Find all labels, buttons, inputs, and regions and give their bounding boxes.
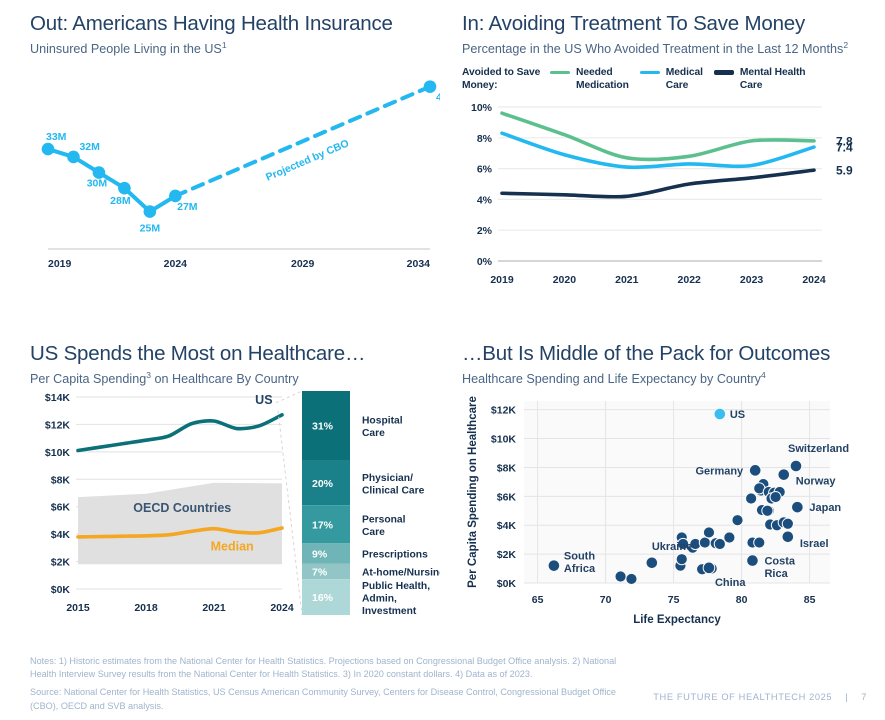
x-tick-label: 2023	[740, 274, 764, 286]
y-tick-label: $6K	[51, 502, 71, 514]
scatter-point	[676, 553, 687, 564]
panel-subtitle: Uninsured People Living in the US1	[30, 40, 440, 57]
y-tick-label: $0K	[497, 578, 517, 590]
data-point-label: 27M	[177, 201, 198, 213]
legend-item-1[interactable]: Medical Care	[640, 67, 703, 93]
breakdown-segment[interactable]: 17%PersonalCare	[302, 505, 406, 543]
scatter-point	[626, 573, 637, 584]
y-tick-label: $0K	[51, 584, 71, 596]
panel-subtitle: Healthcare Spending and Life Expectancy …	[462, 370, 877, 387]
footnote-source: Source: National Center for Health Stati…	[30, 686, 630, 712]
y-tick-label: 8%	[477, 132, 493, 144]
scatter-point-norway	[778, 469, 790, 481]
legend-item-label: Medical Care	[666, 67, 703, 93]
x-tick-label: 65	[532, 594, 544, 606]
data-point	[144, 205, 157, 218]
footnote-marker: 1	[222, 40, 227, 50]
scatter-point-israel	[782, 531, 794, 543]
scatter-point-label: SouthAfrica	[564, 551, 596, 576]
footer-brand: THE FUTURE OF HEALTHTECH 2025 | 7	[653, 692, 867, 702]
breakdown-segment-value: 17%	[312, 519, 334, 531]
legend-item-0[interactable]: Needed Medication	[550, 67, 629, 93]
scatter-point	[699, 537, 710, 548]
y-tick-label: $2K	[51, 556, 71, 568]
data-point	[67, 150, 80, 163]
y-tick-label: $2K	[497, 549, 517, 561]
scatter-point-ukraine	[646, 557, 658, 569]
series-line	[502, 113, 814, 159]
x-tick-label: 75	[668, 594, 680, 606]
chart-legend: Avoided to Save Money: Needed Medication…	[462, 67, 877, 93]
footnote-marker: 4	[761, 370, 766, 380]
panel-title: …But Is Middle of the Pack for Outcomes	[462, 342, 877, 366]
panel-middle-of-the-pack: …But Is Middle of the Pack for Outcomes …	[462, 342, 877, 647]
scatter-point	[746, 493, 757, 504]
breakdown-segment[interactable]: 9%Prescriptions	[302, 543, 428, 563]
breakdown-segment[interactable]: 20%Physician/Clinical Care	[302, 460, 425, 505]
panel-subtitle-text: Uninsured People Living in the US	[30, 42, 222, 56]
scatter-point-switzerland	[790, 460, 802, 472]
chart-annotation: Median	[211, 539, 254, 553]
y-tick-label: $4K	[497, 520, 517, 532]
breakdown-segment[interactable]: 31%HospitalCare	[302, 391, 403, 460]
chart-annotation: US	[255, 393, 272, 407]
data-point-label: 30M	[87, 177, 108, 189]
x-tick-label: 2019	[48, 258, 72, 270]
series-line	[502, 170, 814, 197]
scatter-point-costa-rica	[747, 555, 759, 567]
scatter-point	[732, 514, 743, 525]
scatter-point	[782, 518, 793, 529]
y-tick-label: $10K	[45, 447, 71, 459]
footnote-notes: Notes: 1) Historic estimates from the Na…	[30, 655, 630, 681]
scatter-point	[724, 532, 735, 543]
page-number: 7	[861, 692, 867, 702]
x-tick-label: 2015	[66, 602, 90, 614]
breakdown-segment-value: 31%	[312, 421, 334, 433]
y-tick-label: $12K	[45, 419, 71, 431]
breakdown-segment-label: At-home/Nursing	[362, 567, 440, 578]
per-capita-spending-chart: $0K$2K$4K$6K$8K$10K$12K$14KUSOECD Countr…	[30, 387, 440, 637]
y-tick-label: $14K	[45, 392, 71, 404]
brand-text: THE FUTURE OF HEALTHTECH 2025	[653, 692, 832, 702]
brand-separator: |	[845, 692, 848, 702]
x-tick-label: 2018	[134, 602, 158, 614]
scatter-point-label: Germany	[695, 465, 744, 477]
x-tick-label: 2024	[164, 258, 188, 270]
breakdown-segment-label: PersonalCare	[362, 514, 406, 538]
data-point-label: 32M	[79, 141, 100, 153]
footnotes: Notes: 1) Historic estimates from the Na…	[30, 655, 630, 713]
x-tick-label: 2020	[553, 274, 577, 286]
breakdown-segment-label: HospitalCare	[362, 416, 403, 440]
breakdown-segment-value: 7%	[312, 566, 328, 578]
panel-subtitle-text: Per Capita Spending	[30, 372, 146, 386]
y-tick-label: $8K	[51, 474, 71, 486]
scatter-point	[762, 505, 773, 516]
scatter-point	[770, 491, 781, 502]
data-point	[42, 143, 55, 156]
x-tick-label: 2034	[407, 258, 431, 270]
legend-group-label: Avoided to Save Money:	[462, 67, 550, 93]
scatter-point-us	[714, 408, 726, 420]
y-axis-title: Per Capita Spending on Healthcare	[467, 396, 479, 588]
x-tick-label: 2029	[291, 258, 315, 270]
legend-item-label: Mental Health Care	[740, 67, 806, 93]
scatter-point-label: US	[730, 409, 745, 421]
data-point-label: 41M	[436, 91, 440, 103]
spending-vs-life-expectancy-scatter: $0K$2K$4K$6K$8K$10K$12K6570758085USSwitz…	[462, 387, 877, 637]
legend-swatch-icon	[714, 70, 734, 75]
scatter-point-label: Israel	[800, 538, 829, 550]
y-tick-label: $10K	[491, 433, 517, 445]
x-axis-title: Life Expectancy	[633, 614, 721, 626]
panel-subtitle: Per Capita Spending3 on Healthcare By Co…	[30, 370, 440, 387]
scatter-point-japan	[792, 501, 804, 513]
scatter-point-label: Japan	[809, 502, 841, 514]
uninsured-line-chart: Projected by CBO33M32M30M28M25M27M41M201…	[30, 57, 440, 287]
scatter-point	[714, 538, 725, 549]
x-tick-label: 2024	[802, 274, 826, 286]
scatter-point	[615, 571, 626, 582]
legend-swatch-icon	[640, 71, 660, 74]
slide-root: Out: Americans Having Health Insurance U…	[0, 0, 885, 720]
breakdown-segment-label: Prescriptions	[362, 549, 428, 560]
legend-item-label: Needed Medication	[576, 67, 629, 93]
legend-item-2[interactable]: Mental Health Care	[714, 67, 806, 93]
projection-annotation: Projected by CBO	[264, 137, 351, 183]
panel-subtitle-rest: on Healthcare By Country	[151, 372, 299, 386]
y-tick-label: $4K	[51, 529, 71, 541]
y-tick-label: $6K	[497, 491, 517, 503]
x-tick-label: 70	[600, 594, 612, 606]
y-tick-label: $12K	[491, 405, 517, 417]
data-point-label: 25M	[140, 222, 161, 234]
panel-title: Out: Americans Having Health Insurance	[30, 12, 440, 36]
breakdown-segment-value: 16%	[312, 592, 334, 604]
breakdown-segment-label: Public Health,Admin,Investment	[362, 581, 430, 617]
scatter-point-label: China	[715, 577, 746, 589]
y-tick-label: 4%	[477, 194, 493, 206]
scatter-point-label: Norway	[796, 476, 837, 488]
data-point-label: 33M	[46, 131, 67, 143]
footnote-marker: 2	[843, 40, 848, 50]
series-end-label: 7.4	[836, 140, 853, 154]
x-tick-label: 2024	[270, 602, 294, 614]
breakdown-segment[interactable]: 7%At-home/Nursing	[302, 563, 440, 579]
series-line-us	[78, 415, 282, 451]
panel-title: US Spends the Most on Healthcare…	[30, 342, 440, 366]
legend-swatch-icon	[550, 71, 570, 74]
scatter-point-germany	[749, 464, 761, 476]
avoided-treatment-line-chart: 0%2%4%6%8%10%7.87.45.9201920202021202220…	[462, 93, 877, 303]
panel-in-avoiding-treatment: In: Avoiding Treatment To Save Money Per…	[462, 12, 877, 312]
scatter-point	[703, 527, 714, 538]
x-tick-label: 2021	[202, 602, 226, 614]
breakdown-segment-value: 9%	[312, 548, 328, 560]
x-tick-label: 2021	[615, 274, 639, 286]
breakdown-segment-label: Physician/Clinical Care	[362, 473, 425, 497]
x-tick-label: 2019	[490, 274, 514, 286]
panel-subtitle-text: Healthcare Spending and Life Expectancy …	[462, 372, 761, 386]
data-point	[118, 182, 131, 195]
x-tick-label: 2022	[678, 274, 702, 286]
breakdown-segment[interactable]: 16%Public Health,Admin,Investment	[302, 579, 430, 617]
panel-subtitle-text: Percentage in the US Who Avoided Treatme…	[462, 42, 843, 56]
data-point-label: 28M	[110, 195, 131, 207]
panel-subtitle: Percentage in the US Who Avoided Treatme…	[462, 40, 877, 57]
y-tick-label: $8K	[497, 462, 517, 474]
x-tick-label: 85	[804, 594, 816, 606]
chart-annotation: OECD Countries	[133, 501, 231, 515]
scatter-point-south-africa	[548, 560, 560, 572]
y-tick-label: 2%	[477, 225, 493, 237]
scatter-point-label: Ukraine	[652, 541, 692, 553]
scatter-point-label: Switzerland	[788, 443, 849, 455]
y-tick-label: 0%	[477, 256, 493, 268]
scatter-point-china	[703, 562, 715, 574]
data-point	[424, 80, 437, 93]
y-tick-label: 10%	[471, 102, 493, 114]
y-tick-label: 6%	[477, 163, 493, 175]
panel-title: In: Avoiding Treatment To Save Money	[462, 12, 877, 36]
panel-us-spends-the-most: US Spends the Most on Healthcare… Per Ca…	[30, 342, 440, 647]
scatter-point	[754, 537, 765, 548]
series-end-label: 5.9	[836, 163, 853, 177]
x-tick-label: 80	[736, 594, 748, 606]
panel-out-americans-having-health-insurance: Out: Americans Having Health Insurance U…	[30, 12, 440, 312]
breakdown-segment-value: 20%	[312, 478, 334, 490]
